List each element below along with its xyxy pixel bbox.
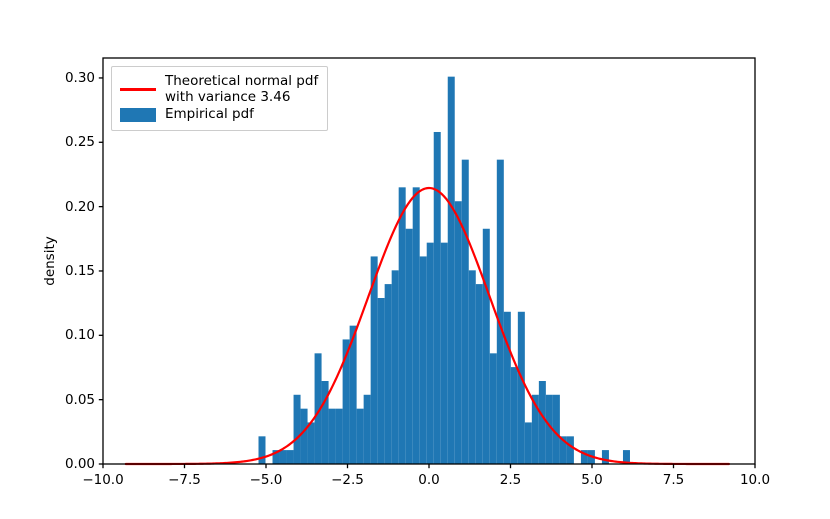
histogram-bar [434,132,441,464]
histogram-bar [483,229,490,464]
y-tick-label: 0.25 [65,134,95,150]
histogram-bar [322,381,329,464]
legend-box: Theoretical normal pdf with variance 3.4… [111,66,328,131]
histogram-bar [448,77,455,464]
x-tick-label: −7.5 [168,472,201,488]
legend-patch-swatch-icon [120,107,156,123]
histogram-bar [518,312,525,464]
legend-entry-empirical: Empirical pdf [120,107,318,123]
histogram-bar [427,243,434,464]
legend-label-empirical: Empirical pdf [165,107,254,123]
legend-line-swatch-icon [120,82,156,98]
x-tick-label: −10.0 [82,472,123,488]
histogram-bar [511,367,518,464]
histogram-bar [602,450,609,464]
histogram-bar [497,160,504,464]
y-tick-label: 0.30 [65,70,95,86]
histogram-bar [462,160,469,464]
histogram-bar [406,229,413,464]
histogram-bar [490,353,497,464]
histogram-bar [364,395,371,464]
histogram-bar [420,256,427,464]
x-tick-label: −5.0 [250,472,283,488]
x-tick-label: −2.5 [331,472,364,488]
x-tick-label: 0.0 [418,472,439,488]
y-tick-label: 0.10 [65,327,95,343]
histogram-bar [385,284,392,464]
x-tick-label: 10.0 [740,472,770,488]
histogram-bar [259,436,266,464]
histogram-bar [525,422,532,464]
y-tick-label: 0.00 [65,456,95,472]
histogram-bar [301,409,308,464]
histogram-bar [441,243,448,464]
histogram-bar [336,409,343,464]
histogram-bar [469,270,476,464]
histogram-bar [357,409,364,464]
histogram-bar [280,450,287,464]
histogram-bar [329,409,336,464]
histogram-bar [308,422,315,464]
legend-label-theoretical: Theoretical normal pdf with variance 3.4… [165,74,318,106]
x-tick-label: 5.0 [581,472,602,488]
y-axis-label: density [42,236,58,286]
y-tick-label: 0.15 [65,263,95,279]
histogram-bar [392,270,399,464]
histogram-bar [476,284,483,464]
histogram-bar [539,381,546,464]
histogram-bar [504,312,511,464]
histogram-bar [378,298,385,464]
x-tick-label: 2.5 [500,472,521,488]
legend-entry-theoretical: Theoretical normal pdf with variance 3.4… [120,74,318,106]
y-tick-label: 0.20 [65,199,95,215]
histogram-bar [399,187,406,464]
histogram-bar [294,395,301,464]
y-tick-label: 0.05 [65,392,95,408]
matplotlib-figure: −10.0−7.5−5.0−2.50.02.55.07.510.0 0.000.… [0,0,830,519]
histogram-bar [287,450,294,464]
histogram-bar [413,187,420,464]
histogram-bar [455,201,462,464]
histogram-bar [567,436,574,464]
x-tick-label: 7.5 [663,472,684,488]
